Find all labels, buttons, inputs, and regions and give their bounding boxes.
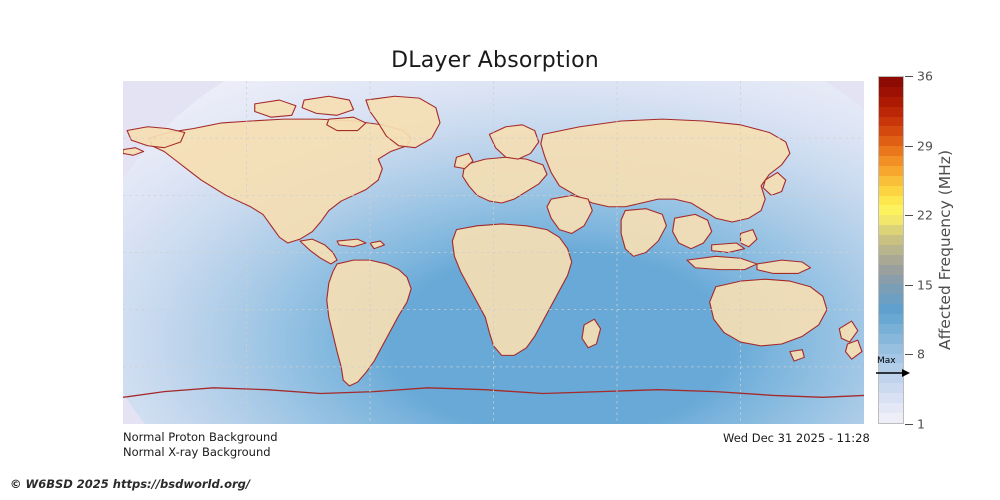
colorbar-tick-label: 36 xyxy=(917,69,933,84)
colorbar-tick-label: 15 xyxy=(917,277,933,292)
colorbar-tick-mark xyxy=(905,424,913,425)
colorbar-tick-mark xyxy=(905,76,913,77)
colorbar-tick-label: 22 xyxy=(917,208,933,223)
colorbar-tick-label: 29 xyxy=(917,138,933,153)
note-proton-background: Normal Proton Background xyxy=(123,430,278,444)
max-marker-label: Max xyxy=(877,357,896,366)
colorbar-tick-label: 1 xyxy=(917,417,925,432)
credit-line: © W6BSD 2025 https://bsdworld.org/ xyxy=(10,477,250,491)
colorbar-axis-title: Affected Frequency (MHz) xyxy=(935,76,955,424)
timestamp: Wed Dec 31 2025 - 11:28 xyxy=(723,431,870,445)
figure-canvas: DLayer Absorption xyxy=(0,0,1000,500)
colorbar-tick-mark xyxy=(905,146,913,147)
colorbar-tick-label: 8 xyxy=(917,347,925,362)
note-xray-background: Normal X-ray Background xyxy=(123,445,271,459)
colorbar[interactable]: 1815222936 Max xyxy=(878,76,904,424)
world-map xyxy=(123,81,864,424)
colorbar-axis-title-text: Affected Frequency (MHz) xyxy=(936,150,954,350)
colorbar-max-marker: Max xyxy=(876,358,916,380)
max-arrow-icon xyxy=(876,368,912,378)
colorbar-tick-mark xyxy=(905,285,913,286)
colorbar-tick-mark xyxy=(905,354,913,355)
map-plot-area[interactable] xyxy=(123,81,864,424)
colorbar-tick-mark xyxy=(905,215,913,216)
page-title: DLayer Absorption xyxy=(0,48,990,73)
